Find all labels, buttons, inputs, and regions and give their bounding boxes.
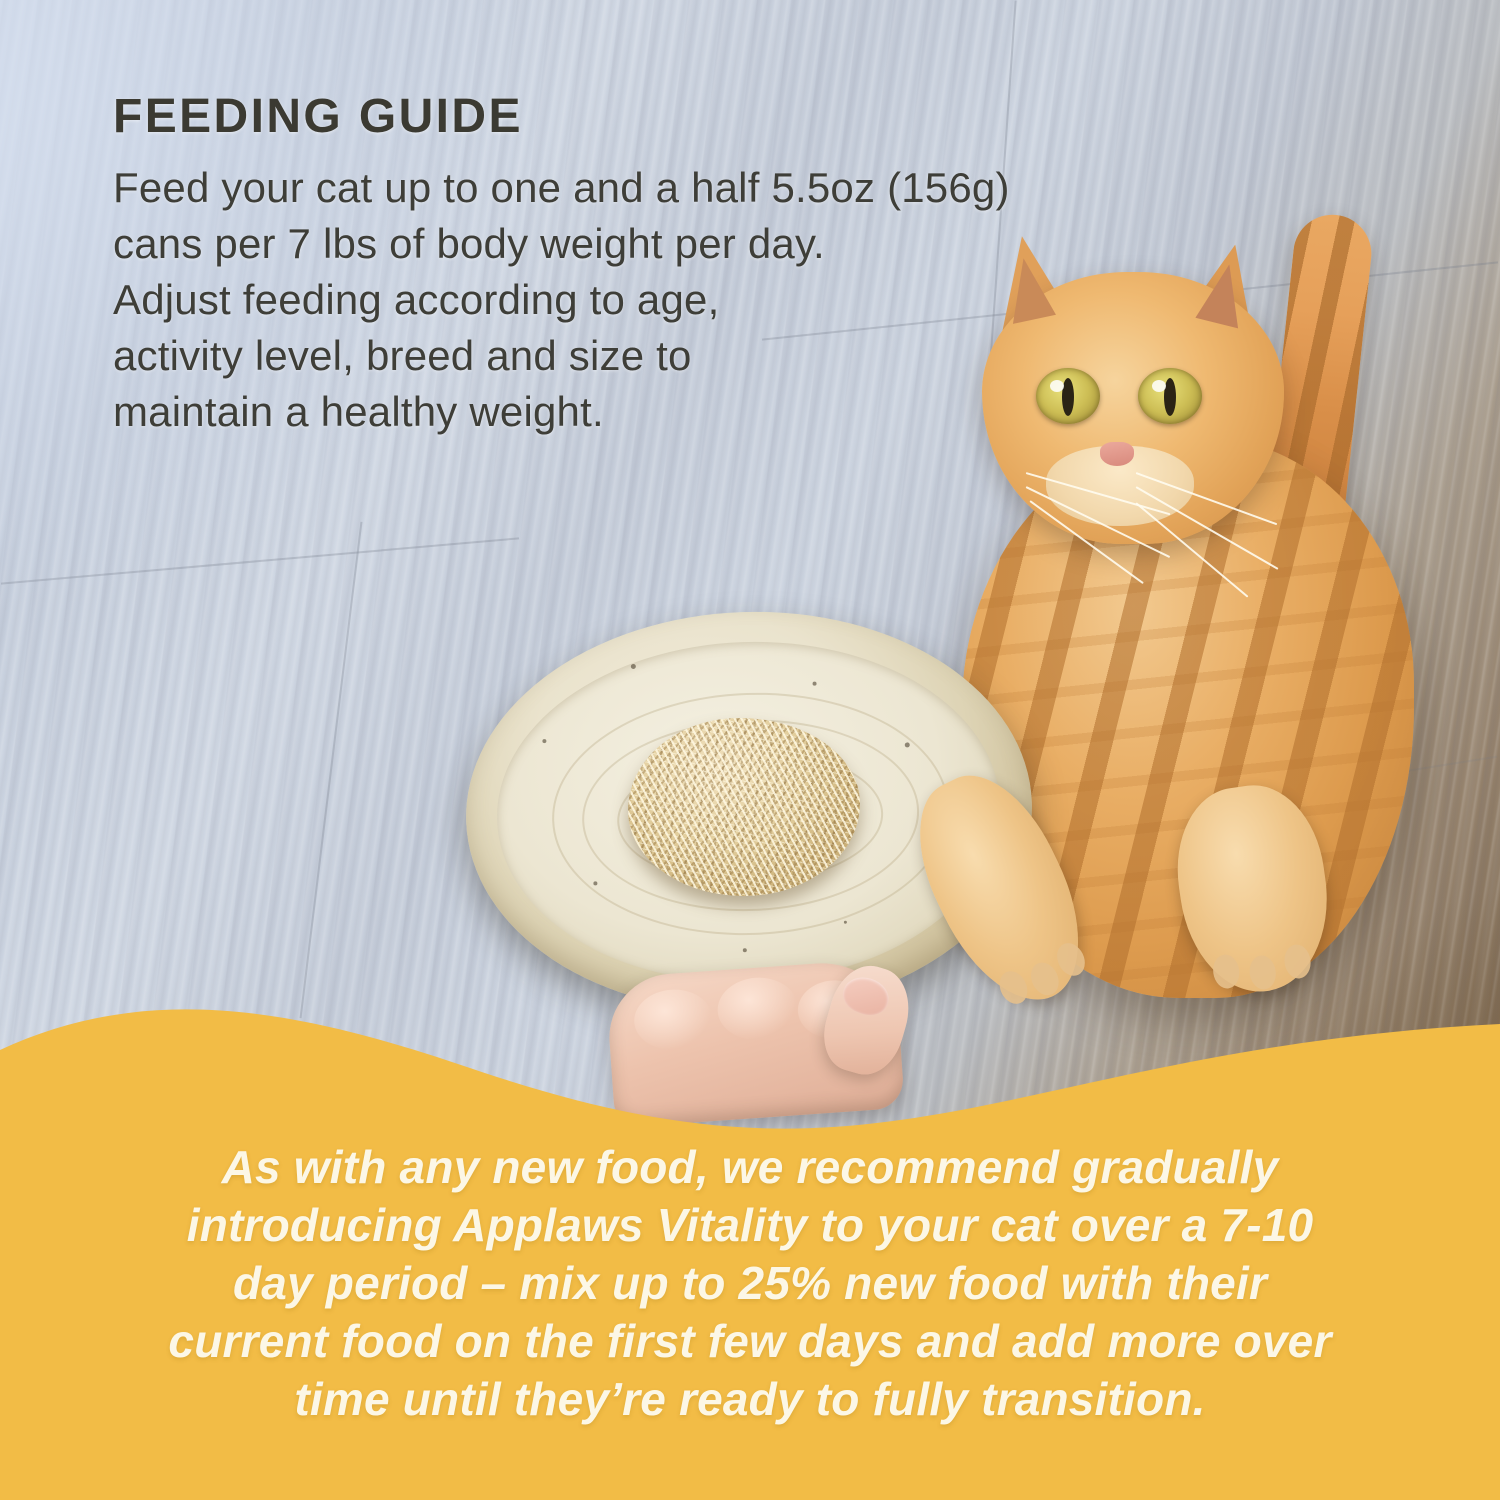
- banner-line-3: day period – mix up to 25% new food with…: [233, 1257, 1267, 1309]
- feeding-line-3: Adjust feeding according to age,: [113, 276, 719, 323]
- banner-line-4: current food on the first few days and a…: [168, 1315, 1331, 1367]
- transition-advice-text: As with any new food, we recommend gradu…: [0, 1138, 1500, 1428]
- feeding-line-2: cans per 7 lbs of body weight per day.: [113, 220, 825, 267]
- shredded-chicken-food: [628, 718, 860, 896]
- banner-line-5: time until they’re ready to fully transi…: [294, 1373, 1205, 1425]
- cat-nose: [1100, 442, 1134, 466]
- orange-tabby-cat: [930, 210, 1490, 1040]
- page-title: FEEDING GUIDE: [113, 92, 1323, 142]
- feeding-line-1: Feed your cat up to one and a half 5.5oz…: [113, 164, 1010, 211]
- feeding-line-5: maintain a healthy weight.: [113, 388, 604, 435]
- feeding-line-4: activity level, breed and size to: [113, 332, 692, 379]
- product-feeding-guide-image: FEEDING GUIDE Feed your cat up to one an…: [0, 0, 1500, 1500]
- banner-line-2: introducing Applaws Vitality to your cat…: [187, 1199, 1314, 1251]
- cat-eye-left: [1036, 368, 1100, 424]
- food-shred-texture: [628, 718, 860, 896]
- transition-advice-banner: As with any new food, we recommend gradu…: [0, 990, 1500, 1500]
- banner-line-1: As with any new food, we recommend gradu…: [222, 1141, 1279, 1193]
- cat-eye-right: [1138, 368, 1202, 424]
